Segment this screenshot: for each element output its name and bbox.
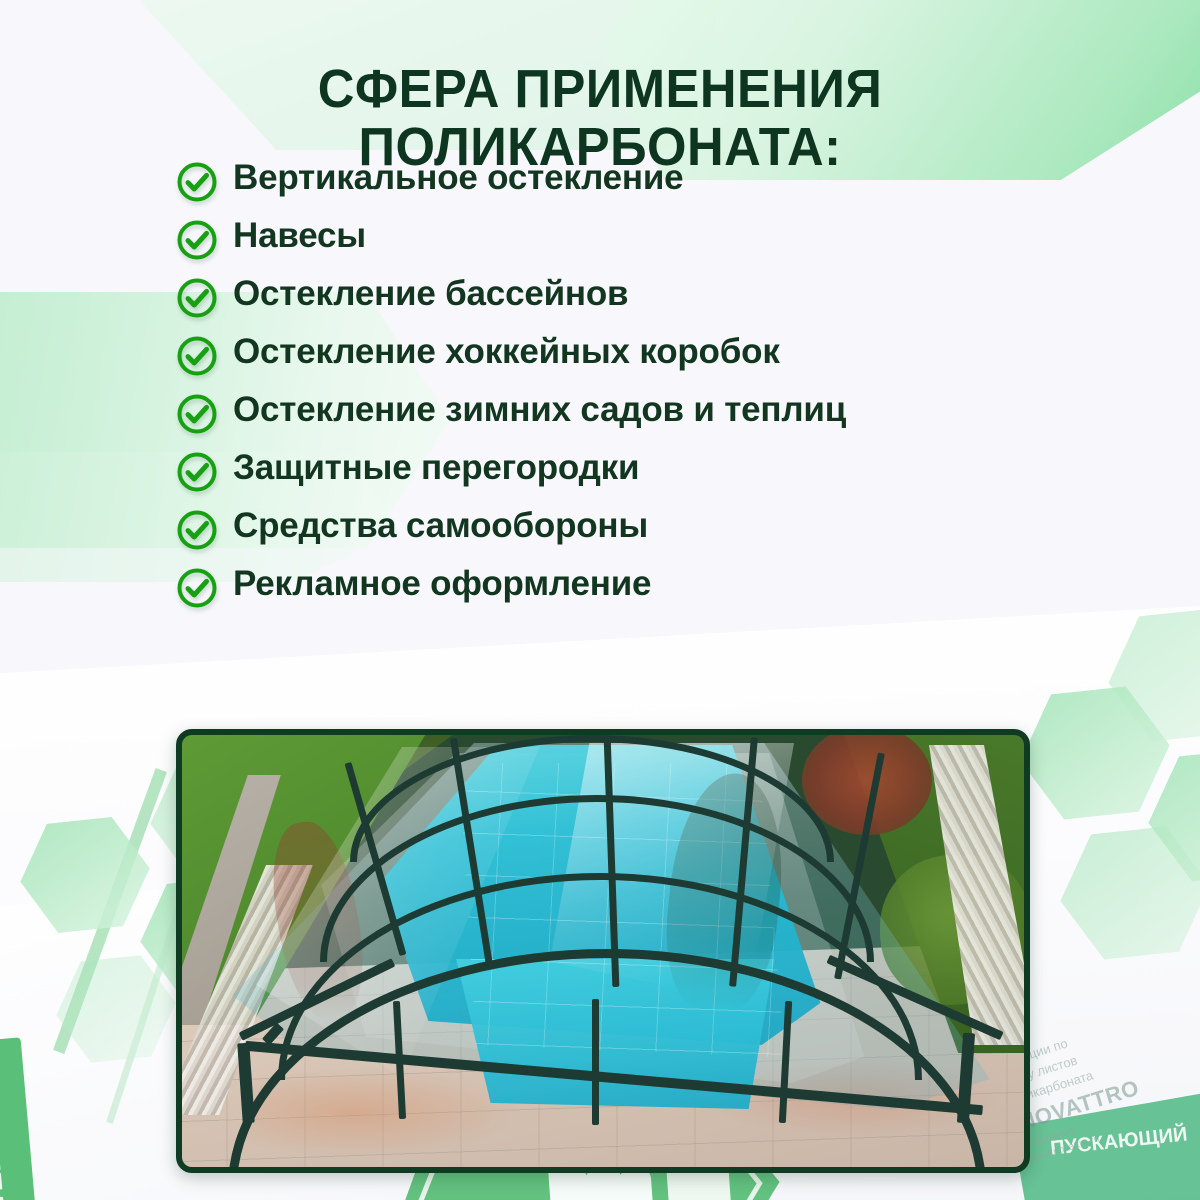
check-circle-icon [175,508,219,552]
checklist-item: Защитные перегородки [175,448,1075,494]
check-circle-icon [175,160,219,204]
checklist-item-label: Навесы [233,216,366,256]
check-circle-icon [175,392,219,436]
checklist-item: Рекламное оформление [175,564,1075,610]
checklist-item-label: Средства самообороны [233,506,648,546]
checklist-item: Средства самообороны [175,506,1075,552]
photo-side-post-left [237,1043,255,1124]
checklist-item: Остекление бассейнов [175,274,1075,320]
check-circle-icon [175,450,219,494]
check-circle-icon [175,566,219,610]
poster-content: СФЕРА ПРИМЕНЕНИЯ ПОЛИКАРБОНАТА: Вертикал… [0,0,1200,1200]
checklist-item: Вертикальное остекление [175,158,1075,204]
page-title-line-1: СФЕРА ПРИМЕНЕНИЯ [318,59,883,119]
check-circle-icon [175,276,219,320]
check-circle-icon [175,334,219,378]
photo-front-mullion [592,999,599,1125]
check-circle-icon [175,218,219,262]
checklist-item: Навесы [175,216,1075,262]
checklist-item-label: Остекление хоккейных коробок [233,332,780,372]
application-checklist: Вертикальное остеклениеНавесыОстекление … [175,158,1075,622]
pool-enclosure-photo [176,729,1030,1173]
checklist-item-label: Рекламное оформление [233,564,651,604]
photo-scene [182,735,1024,1167]
checklist-item-label: Остекление зимних садов и теплиц [233,390,846,430]
checklist-item-label: Вертикальное остекление [233,158,683,198]
checklist-item-label: Остекление бассейнов [233,274,628,314]
photo-pool-enclosure [200,743,1006,1125]
poster-canvas: ЮЧИТЕЛЬ ПУСКАЮЩИЙ ткие ендации п [0,0,1200,1200]
checklist-item-label: Защитные перегородки [233,448,639,488]
checklist-item: Остекление хоккейных коробок [175,332,1075,378]
checklist-item: Остекление зимних садов и теплиц [175,390,1075,436]
